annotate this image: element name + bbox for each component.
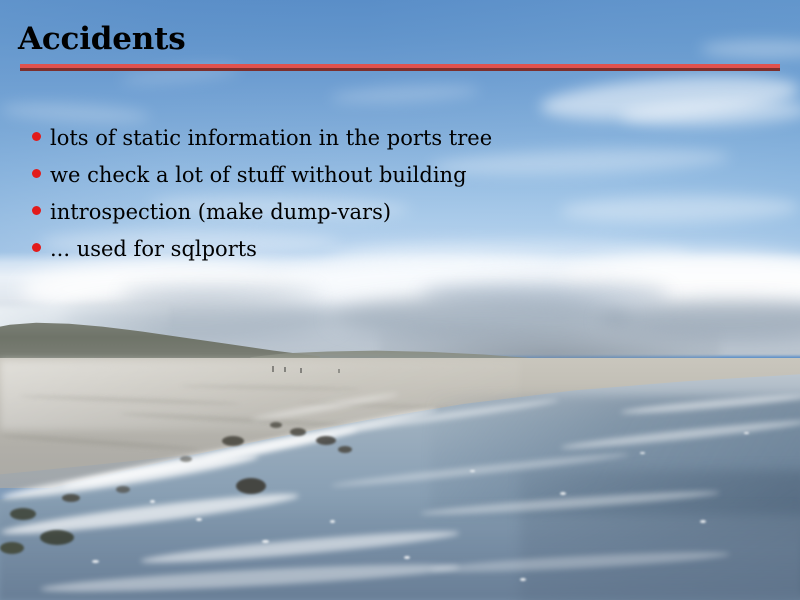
water-sparkle <box>262 540 269 543</box>
seaweed-clump <box>40 530 74 545</box>
list-item-label: introspection (make dump-vars) <box>50 200 391 225</box>
distant-person <box>300 368 302 373</box>
list-item: ... used for sqlports <box>32 237 752 274</box>
presentation-slide: Accidents lots of static information in … <box>0 0 800 600</box>
seaweed-clump <box>10 508 36 520</box>
seaweed-clump <box>0 542 24 554</box>
list-item-label: we check a lot of stuff without building <box>50 163 467 188</box>
water-sparkle <box>520 578 526 581</box>
bullet-list: lots of static information in the ports … <box>32 126 752 274</box>
water-sparkle <box>330 520 335 523</box>
seaweed-clump <box>180 456 192 462</box>
water-sparkle <box>640 452 645 454</box>
water-sparkle <box>92 560 99 563</box>
water-sparkle <box>700 520 706 523</box>
seaweed-clump <box>270 422 282 428</box>
seaweed-clump <box>62 494 80 502</box>
water-sparkle <box>404 556 410 559</box>
water-sparkle <box>470 470 475 472</box>
distant-person <box>284 367 286 372</box>
list-item: lots of static information in the ports … <box>32 126 752 163</box>
list-item: introspection (make dump-vars) <box>32 200 752 237</box>
seaweed-clump <box>236 478 266 494</box>
slide-background-photo <box>0 0 800 600</box>
bullet-dot-icon <box>32 169 41 178</box>
slide-title: Accidents <box>18 24 186 55</box>
water-sparkle <box>150 500 155 503</box>
water-sparkle <box>744 432 749 434</box>
water-sparkle <box>560 492 566 495</box>
bullet-dot-icon <box>32 206 41 215</box>
distant-person <box>338 369 340 373</box>
title-underline-rule <box>20 64 780 71</box>
seaweed-clump <box>290 428 306 436</box>
seaweed-clump <box>222 436 244 446</box>
water-sparkle <box>196 518 202 521</box>
list-item-label: lots of static information in the ports … <box>50 126 492 151</box>
bullet-dot-icon <box>32 243 41 252</box>
list-item: we check a lot of stuff without building <box>32 163 752 200</box>
seaweed-clump <box>338 446 352 453</box>
distant-person <box>272 366 274 372</box>
seaweed-clump <box>316 436 336 445</box>
seaweed-clump <box>116 486 130 493</box>
rule-shadow <box>20 68 780 71</box>
bullet-dot-icon <box>32 132 41 141</box>
list-item-label: ... used for sqlports <box>50 237 257 262</box>
